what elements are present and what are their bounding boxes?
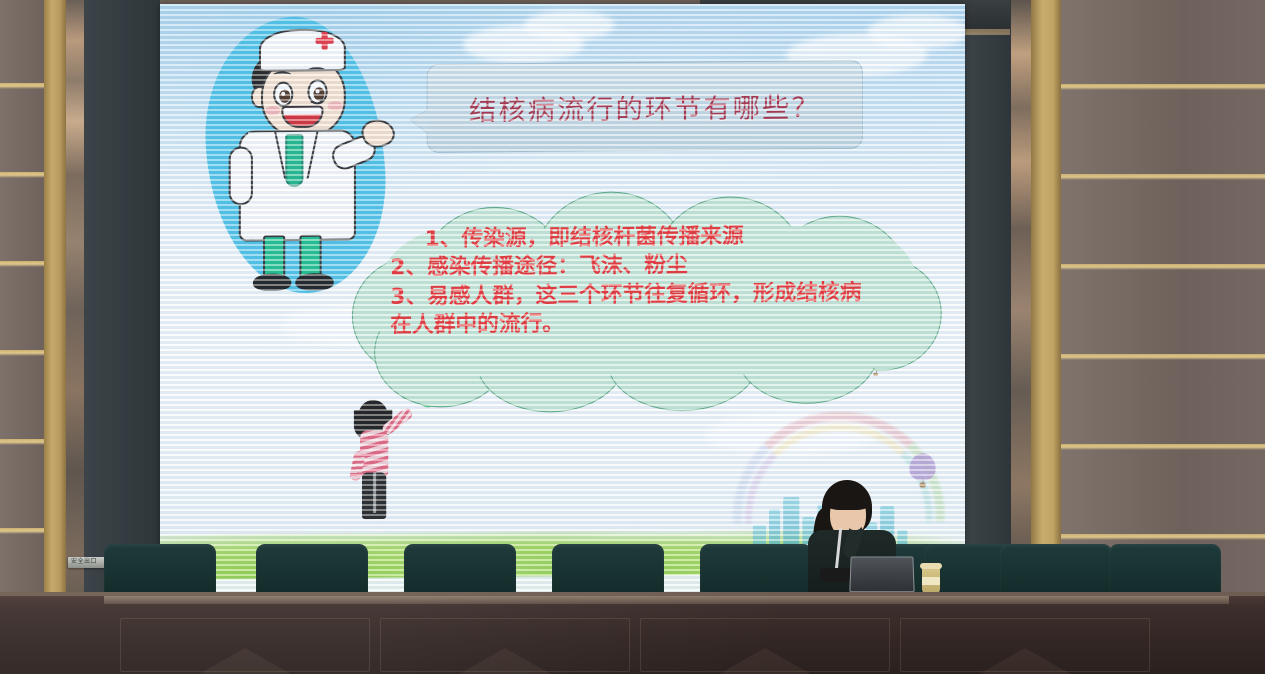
- left-metal-strip: [66, 0, 84, 674]
- slide-title: 结核病流行的环节有哪些？: [428, 61, 862, 152]
- doctor-shoe-right: [295, 273, 333, 291]
- paper-cup: [922, 566, 940, 594]
- head-table: [0, 592, 1265, 674]
- red-cross-icon: [316, 32, 334, 50]
- doctor-arm-left: [229, 147, 253, 206]
- doctor-shoe-left: [253, 273, 291, 291]
- body-line-3: 3、易感人群，这三个环节往复循环，形成结核病: [390, 278, 941, 312]
- cup-lid: [920, 563, 942, 569]
- body-line-4: 在人群中的流行。: [390, 307, 941, 341]
- laptop-screen: [849, 556, 914, 592]
- slide-body-cloud: 1、传染源，即结核杆菌传播来源 2、感染传播途径：飞沫、粉尘 3、易感人群，这三…: [344, 186, 950, 416]
- screenshot-root: 结核病流行的环节有哪些？ 1、传染源，即结核杆菌传播来源 2、感染传播途径：飞沫…: [0, 0, 1265, 674]
- hot-air-balloon-1: [909, 453, 935, 488]
- presenter-hand: [848, 514, 862, 530]
- child-with-pinwheel: [350, 400, 413, 520]
- doctor-tie: [285, 134, 303, 187]
- sky-cloud-4: [867, 14, 965, 49]
- doctor-eye-left: [273, 82, 293, 107]
- left-tan-column: [44, 0, 66, 674]
- cup-band: [922, 577, 940, 585]
- child-pants: [362, 472, 386, 519]
- left-wall-panels: [0, 0, 44, 674]
- desk-glare: [0, 592, 1265, 674]
- slide-title-bubble: 结核病流行的环节有哪些？: [427, 60, 863, 153]
- presenter-fringe: [826, 490, 870, 510]
- slide-body-text: 1、传染源，即结核杆菌传播来源 2、感染传播途径：飞沫、粉尘 3、易感人群，这三…: [390, 221, 941, 341]
- bubble-tail: [410, 109, 428, 133]
